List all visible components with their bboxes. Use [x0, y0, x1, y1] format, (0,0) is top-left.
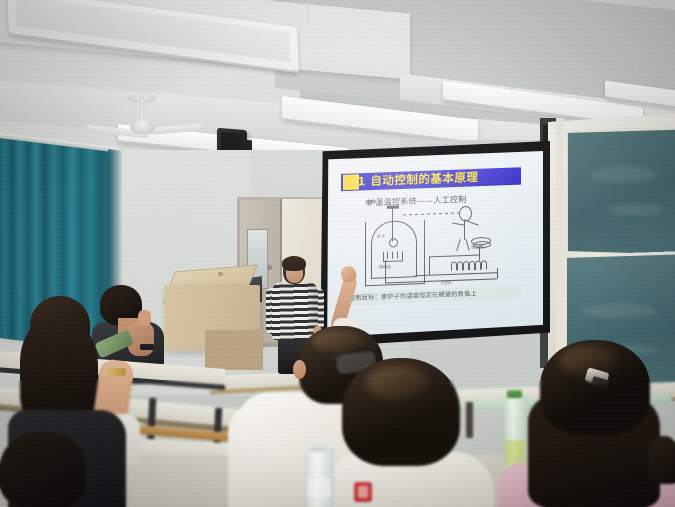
student-dark-shirt-hand	[138, 310, 151, 326]
board-divider	[556, 118, 564, 370]
circuit-wire	[415, 272, 497, 276]
teacher-torso	[272, 282, 318, 340]
light-wire	[307, 0, 308, 28]
hair-highlight	[312, 330, 364, 352]
hair-highlight	[366, 366, 430, 400]
thermometer-stem	[392, 207, 393, 242]
bench-leg	[466, 402, 473, 438]
student-far-right-head	[648, 436, 675, 484]
bottle-cap[interactable]	[507, 390, 522, 398]
circuit-wire	[497, 268, 498, 278]
operator-figure-arm	[464, 220, 478, 226]
circuit-wire	[429, 255, 479, 258]
student-glasses-ear	[293, 360, 306, 379]
presentation-slide: 1.1 自动控制的基本原理 炉温温控系统——人工控制 温度计 炉子 电阻丝 调压…	[325, 150, 543, 338]
light-wire	[510, 14, 511, 98]
shirt-graphic-inner	[358, 486, 368, 498]
diagram-label-furnace: 炉子	[377, 233, 385, 239]
circuit-wire	[479, 246, 480, 260]
diagram-label-thermometer: 温度计	[365, 199, 377, 206]
circuit-wire	[429, 256, 430, 274]
slide-title: 1.1 自动控制的基本原理	[344, 168, 522, 190]
lectern-lower-panel	[205, 330, 263, 370]
blackboard-upper	[565, 126, 675, 258]
teacher-hair	[282, 256, 306, 271]
operator-figure-body	[464, 219, 465, 239]
classroom-photo: 1.1 自动控制的基本原理 炉温温控系统——人工控制 温度计 炉子 电阻丝 调压…	[0, 0, 675, 507]
bottle-label	[307, 478, 331, 498]
voltage-regulator-base	[473, 241, 491, 249]
bottle-cap[interactable]	[310, 443, 327, 452]
door-knob[interactable]	[267, 265, 272, 270]
wristwatch	[140, 344, 154, 350]
student-foreground-head	[0, 432, 86, 507]
ceiling-fan-hub	[130, 120, 155, 134]
observation-sight-line	[403, 212, 461, 215]
lectern-latch[interactable]	[218, 272, 223, 276]
bracelet	[108, 368, 126, 376]
light-wire	[636, 6, 637, 76]
control-system-diagram: 温度计 炉子 电阻丝 调压器 220V	[363, 202, 513, 291]
furnace-vessel	[371, 220, 417, 279]
projection-screen[interactable]: 1.1 自动控制的基本原理 炉温温控系统——人工控制 温度计 炉子 电阻丝 调压…	[325, 150, 543, 338]
operator-figure-leg	[456, 239, 461, 251]
operator-figure-leg	[465, 239, 470, 251]
circuit-wire	[385, 260, 386, 282]
